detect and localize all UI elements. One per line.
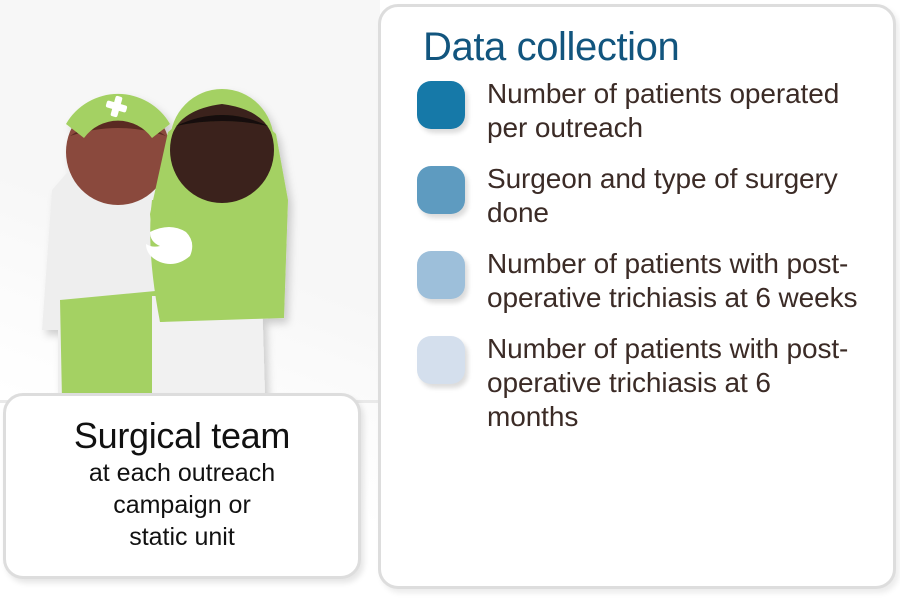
- list-item: Number of patients operated per outreach: [417, 77, 873, 145]
- caption-subtitle-line-3: static unit: [129, 522, 235, 553]
- legend-swatch-2: [417, 166, 465, 214]
- caption-subtitle-line-2: campaign or: [113, 490, 251, 521]
- list-item-label: Number of patients with post-operative t…: [487, 247, 862, 315]
- legend-swatch-1: [417, 81, 465, 129]
- caption-title: Surgical team: [74, 415, 290, 457]
- surgical-team-caption-card: Surgical team at each outreach campaign …: [3, 393, 361, 579]
- legend-swatch-3: [417, 251, 465, 299]
- caption-subtitle-line-1: at each outreach: [89, 458, 275, 489]
- list-item-label: Surgeon and type of surgery done: [487, 162, 862, 230]
- infographic-canvas: Surgical team at each outreach campaign …: [0, 0, 900, 600]
- data-collection-list: Number of patients operated per outreach…: [417, 77, 873, 434]
- list-item: Number of patients with post-operative t…: [417, 247, 873, 315]
- list-item: Number of patients with post-operative t…: [417, 332, 873, 434]
- list-item-label: Number of patients operated per outreach: [487, 77, 862, 145]
- list-item-label: Number of patients with post-operative t…: [487, 332, 862, 434]
- data-collection-title: Data collection: [423, 23, 873, 71]
- list-item: Surgeon and type of surgery done: [417, 162, 873, 230]
- data-collection-card: Data collection Number of patients opera…: [378, 4, 896, 589]
- legend-swatch-4: [417, 336, 465, 384]
